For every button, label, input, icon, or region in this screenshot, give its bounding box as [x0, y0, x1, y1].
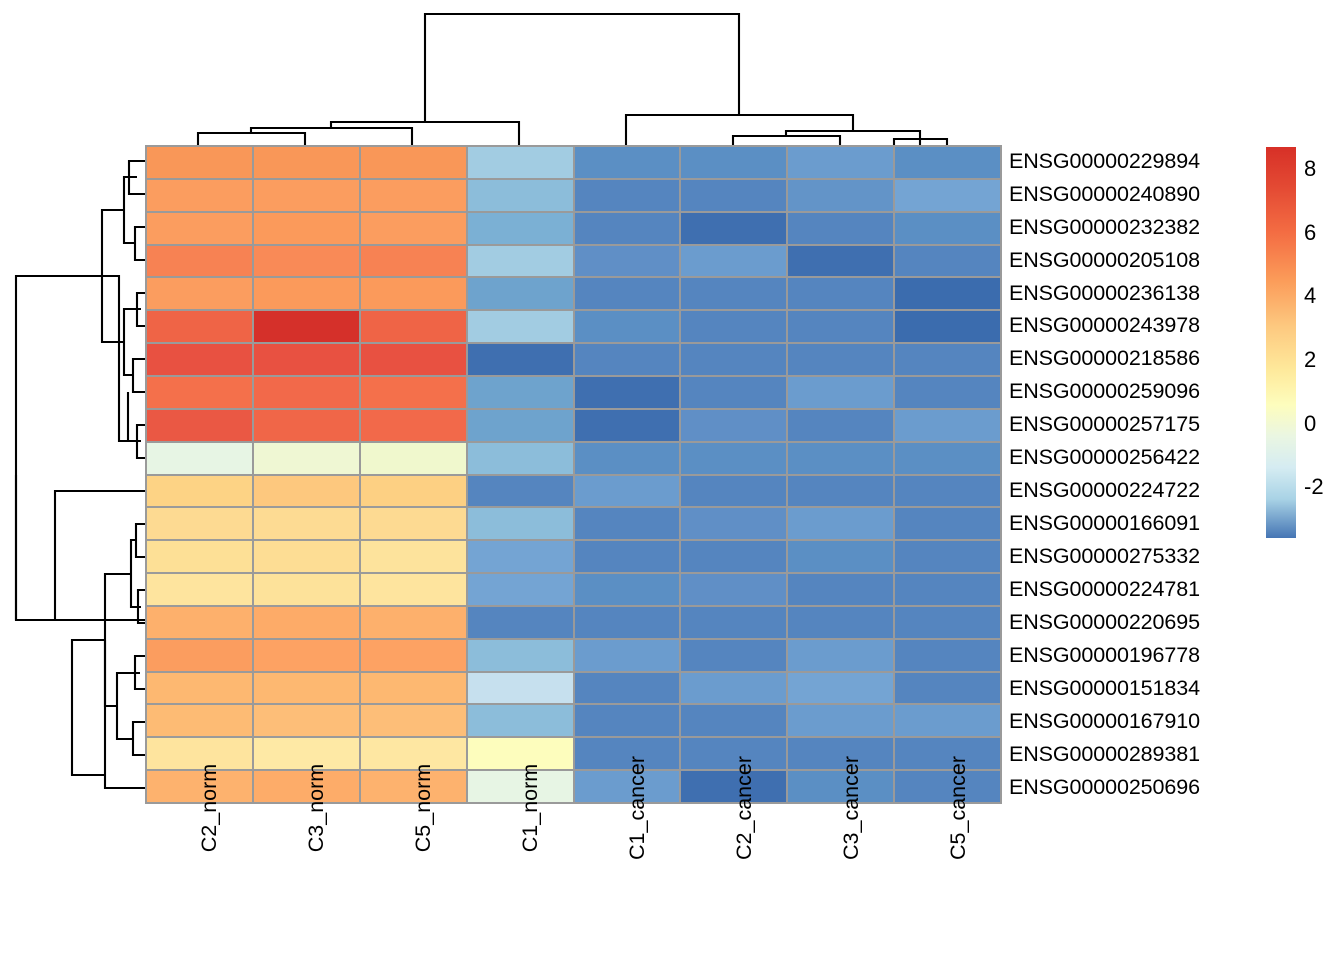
column-label-slot: C5_cancer: [895, 806, 1002, 960]
heatmap-cell[interactable]: [895, 673, 1000, 704]
heatmap-cell[interactable]: [468, 180, 573, 211]
heatmap-cell[interactable]: [254, 476, 359, 507]
heatmap-cell[interactable]: [575, 147, 680, 178]
heatmap-cell[interactable]: [147, 640, 252, 671]
row-dendrogram: [0, 0, 150, 960]
column-label: C5_norm: [413, 764, 435, 852]
heatmap-cell[interactable]: [254, 311, 359, 342]
heatmap-cell[interactable]: [788, 705, 893, 736]
heatmap-cell[interactable]: [254, 147, 359, 178]
heatmap-cell[interactable]: [147, 705, 252, 736]
heatmap-cell[interactable]: [468, 147, 573, 178]
row-label: ENSG00000256422: [1009, 442, 1259, 475]
heatmap-cell[interactable]: [788, 673, 893, 704]
heatmap-cell[interactable]: [147, 246, 252, 277]
heatmap-cell[interactable]: [575, 508, 680, 539]
heatmap-cell[interactable]: [361, 607, 466, 638]
heatmap-cell[interactable]: [468, 640, 573, 671]
heatmap-cell[interactable]: [468, 410, 573, 441]
heatmap-cell[interactable]: [147, 147, 252, 178]
heatmap-cell[interactable]: [147, 541, 252, 572]
heatmap-cell[interactable]: [788, 344, 893, 375]
heatmap-cell[interactable]: [361, 180, 466, 211]
heatmap-cell[interactable]: [575, 443, 680, 474]
heatmap-cell[interactable]: [788, 476, 893, 507]
row-label: ENSG00000250696: [1009, 771, 1259, 804]
heatmap-cell[interactable]: [895, 705, 1000, 736]
heatmap-cell[interactable]: [575, 213, 680, 244]
heatmap-cell[interactable]: [468, 508, 573, 539]
colorbar-tick-label: 4: [1304, 285, 1316, 307]
clustermap-figure: ENSG00000229894ENSG00000240890ENSG000002…: [0, 0, 1344, 960]
row-label: ENSG00000196778: [1009, 639, 1259, 672]
heatmap-cell[interactable]: [361, 541, 466, 572]
column-label-row: C2_normC3_normC5_normC1_normC1_cancerC2_…: [145, 806, 1002, 960]
heatmap-cell[interactable]: [361, 705, 466, 736]
heatmap-cell[interactable]: [681, 476, 786, 507]
heatmap-cell[interactable]: [788, 278, 893, 309]
row-label: ENSG00000236138: [1009, 277, 1259, 310]
row-label: ENSG00000151834: [1009, 672, 1259, 705]
heatmap-cell[interactable]: [895, 180, 1000, 211]
heatmap-cell[interactable]: [361, 344, 466, 375]
heatmap-cell[interactable]: [147, 574, 252, 605]
colorbar-tick-label: -2: [1304, 476, 1324, 498]
colorbar-tick-label: 2: [1304, 349, 1316, 371]
row-label: ENSG00000229894: [1009, 145, 1259, 178]
heatmap-cell[interactable]: [681, 640, 786, 671]
heatmap-cell[interactable]: [575, 278, 680, 309]
heatmap-cell[interactable]: [361, 443, 466, 474]
row-label: ENSG00000232382: [1009, 211, 1259, 244]
heatmap-cell[interactable]: [895, 278, 1000, 309]
heatmap-cell[interactable]: [681, 344, 786, 375]
colorbar-tick-label: 6: [1304, 222, 1316, 244]
heatmap-cell[interactable]: [895, 344, 1000, 375]
row-label: ENSG00000243978: [1009, 310, 1259, 343]
column-label: C5_cancer: [948, 756, 970, 860]
heatmap-cell[interactable]: [575, 410, 680, 441]
heatmap-cell[interactable]: [681, 213, 786, 244]
heatmap-cell[interactable]: [895, 147, 1000, 178]
heatmap-cell[interactable]: [254, 377, 359, 408]
heatmap-cell[interactable]: [575, 311, 680, 342]
column-label: C2_cancer: [734, 756, 756, 860]
heatmap-cell[interactable]: [895, 541, 1000, 572]
heatmap-cell[interactable]: [468, 213, 573, 244]
heatmap-cell[interactable]: [575, 705, 680, 736]
heatmap-cell[interactable]: [147, 377, 252, 408]
heatmap-cell[interactable]: [254, 213, 359, 244]
heatmap-cell[interactable]: [361, 278, 466, 309]
heatmap-cell[interactable]: [788, 180, 893, 211]
heatmap-cell[interactable]: [575, 640, 680, 671]
heatmap-cell[interactable]: [468, 377, 573, 408]
row-label: ENSG00000218586: [1009, 343, 1259, 376]
heatmap-cell[interactable]: [468, 311, 573, 342]
heatmap-cell[interactable]: [681, 147, 786, 178]
heatmap-cell[interactable]: [788, 246, 893, 277]
column-dendrogram: [0, 0, 1344, 150]
heatmap-cell[interactable]: [681, 508, 786, 539]
heatmap-cell[interactable]: [681, 673, 786, 704]
heatmap-cell[interactable]: [788, 213, 893, 244]
heatmap-cell[interactable]: [468, 541, 573, 572]
heatmap-cell[interactable]: [895, 410, 1000, 441]
heatmap-cell[interactable]: [788, 443, 893, 474]
heatmap-cell[interactable]: [681, 705, 786, 736]
heatmap-cell[interactable]: [147, 607, 252, 638]
heatmap-cell[interactable]: [361, 640, 466, 671]
heatmap-cell[interactable]: [575, 246, 680, 277]
heatmap-cell[interactable]: [147, 311, 252, 342]
heatmap-cell[interactable]: [575, 476, 680, 507]
heatmap-cell[interactable]: [361, 377, 466, 408]
heatmap-cell[interactable]: [895, 476, 1000, 507]
heatmap-cell[interactable]: [468, 443, 573, 474]
heatmap-cell[interactable]: [361, 476, 466, 507]
heatmap-cell[interactable]: [254, 508, 359, 539]
heatmap-cell[interactable]: [468, 705, 573, 736]
heatmap-cell[interactable]: [147, 508, 252, 539]
row-label: ENSG00000289381: [1009, 738, 1259, 771]
heatmap-cell[interactable]: [361, 311, 466, 342]
heatmap-cell[interactable]: [361, 673, 466, 704]
heatmap-cell[interactable]: [147, 443, 252, 474]
heatmap-cell[interactable]: [254, 541, 359, 572]
heatmap-cell[interactable]: [788, 147, 893, 178]
heatmap-cell[interactable]: [147, 180, 252, 211]
heatmap-cell[interactable]: [468, 607, 573, 638]
heatmap-cell[interactable]: [361, 508, 466, 539]
row-label-column: ENSG00000229894ENSG00000240890ENSG000002…: [1009, 145, 1259, 804]
heatmap-cell[interactable]: [681, 180, 786, 211]
heatmap-cell[interactable]: [147, 344, 252, 375]
heatmap-cell[interactable]: [147, 213, 252, 244]
row-label: ENSG00000259096: [1009, 376, 1259, 409]
column-label-slot: C2_norm: [145, 806, 252, 960]
heatmap-cell[interactable]: [895, 443, 1000, 474]
heatmap-cell[interactable]: [575, 673, 680, 704]
heatmap-cell[interactable]: [681, 541, 786, 572]
heatmap-cell[interactable]: [895, 508, 1000, 539]
heatmap-cell[interactable]: [681, 377, 786, 408]
heatmap-cell[interactable]: [575, 574, 680, 605]
heatmap-cell[interactable]: [681, 443, 786, 474]
heatmap-cell[interactable]: [575, 180, 680, 211]
heatmap-cell[interactable]: [575, 607, 680, 638]
heatmap-cell[interactable]: [681, 574, 786, 605]
colorbar-tick-label: 8: [1304, 158, 1316, 180]
heatmap-cell[interactable]: [895, 311, 1000, 342]
heatmap-cell[interactable]: [468, 246, 573, 277]
column-label-slot: C1_cancer: [574, 806, 681, 960]
heatmap-cell[interactable]: [254, 673, 359, 704]
heatmap-cell[interactable]: [254, 705, 359, 736]
heatmap-cell[interactable]: [681, 607, 786, 638]
row-label: ENSG00000275332: [1009, 540, 1259, 573]
column-label-slot: C3_cancer: [788, 806, 895, 960]
heatmap-cell[interactable]: [788, 311, 893, 342]
row-label: ENSG00000220695: [1009, 606, 1259, 639]
column-label-slot: C3_norm: [252, 806, 359, 960]
heatmap-cell[interactable]: [361, 574, 466, 605]
heatmap-cell[interactable]: [254, 574, 359, 605]
heatmap-cell[interactable]: [895, 574, 1000, 605]
row-label: ENSG00000166091: [1009, 507, 1259, 540]
heatmap-cell[interactable]: [788, 377, 893, 408]
heatmap-cell[interactable]: [788, 410, 893, 441]
heatmap-cell[interactable]: [788, 574, 893, 605]
heatmap-cell[interactable]: [254, 278, 359, 309]
column-label-slot: C1_norm: [466, 806, 573, 960]
heatmap-cell[interactable]: [895, 377, 1000, 408]
heatmap-cell[interactable]: [254, 180, 359, 211]
colorbar-tick-label: 0: [1304, 413, 1316, 435]
colorbar-gradient: [1266, 147, 1296, 538]
column-label: C1_cancer: [627, 756, 649, 860]
column-label-slot: C2_cancer: [681, 806, 788, 960]
row-label: ENSG00000224781: [1009, 573, 1259, 606]
row-label: ENSG00000257175: [1009, 409, 1259, 442]
heatmap-cell[interactable]: [681, 410, 786, 441]
heatmap-cell[interactable]: [147, 410, 252, 441]
row-label: ENSG00000167910: [1009, 705, 1259, 738]
column-label: C3_norm: [306, 764, 328, 852]
heatmap-cell[interactable]: [788, 508, 893, 539]
heatmap-cell[interactable]: [361, 147, 466, 178]
heatmap-cell[interactable]: [788, 607, 893, 638]
heatmap-cell[interactable]: [254, 640, 359, 671]
heatmap-cell[interactable]: [147, 673, 252, 704]
heatmap-cell[interactable]: [681, 278, 786, 309]
heatmap-cell[interactable]: [254, 607, 359, 638]
heatmap-cell[interactable]: [147, 278, 252, 309]
heatmap-cell[interactable]: [788, 541, 893, 572]
heatmap-cell[interactable]: [468, 344, 573, 375]
heatmap-cell[interactable]: [254, 410, 359, 441]
heatmap-cell[interactable]: [895, 246, 1000, 277]
heatmap-cell[interactable]: [254, 246, 359, 277]
heatmap-cell[interactable]: [254, 443, 359, 474]
column-label: C1_norm: [520, 764, 542, 852]
heatmap-cell[interactable]: [254, 344, 359, 375]
colorbar: 86420-2: [1266, 147, 1344, 547]
heatmap-cell[interactable]: [468, 673, 573, 704]
row-label: ENSG00000224722: [1009, 475, 1259, 508]
heatmap-cell[interactable]: [575, 377, 680, 408]
column-label: C2_norm: [199, 764, 221, 852]
heatmap-cell[interactable]: [575, 541, 680, 572]
heatmap-cell[interactable]: [681, 246, 786, 277]
heatmap-cell[interactable]: [361, 246, 466, 277]
heatmap-cell[interactable]: [895, 607, 1000, 638]
heatmap-grid[interactable]: [145, 145, 1002, 804]
heatmap-cell[interactable]: [575, 344, 680, 375]
heatmap-cell[interactable]: [468, 278, 573, 309]
heatmap-cell[interactable]: [681, 311, 786, 342]
heatmap-cell[interactable]: [147, 476, 252, 507]
heatmap-cell[interactable]: [895, 640, 1000, 671]
heatmap-cell[interactable]: [895, 213, 1000, 244]
column-label-slot: C5_norm: [359, 806, 466, 960]
row-label: ENSG00000240890: [1009, 178, 1259, 211]
heatmap-cell[interactable]: [361, 410, 466, 441]
heatmap-cell[interactable]: [788, 640, 893, 671]
column-label: C3_cancer: [841, 756, 863, 860]
heatmap-cell[interactable]: [468, 574, 573, 605]
heatmap-cell[interactable]: [468, 476, 573, 507]
row-label: ENSG00000205108: [1009, 244, 1259, 277]
heatmap-cell[interactable]: [361, 213, 466, 244]
